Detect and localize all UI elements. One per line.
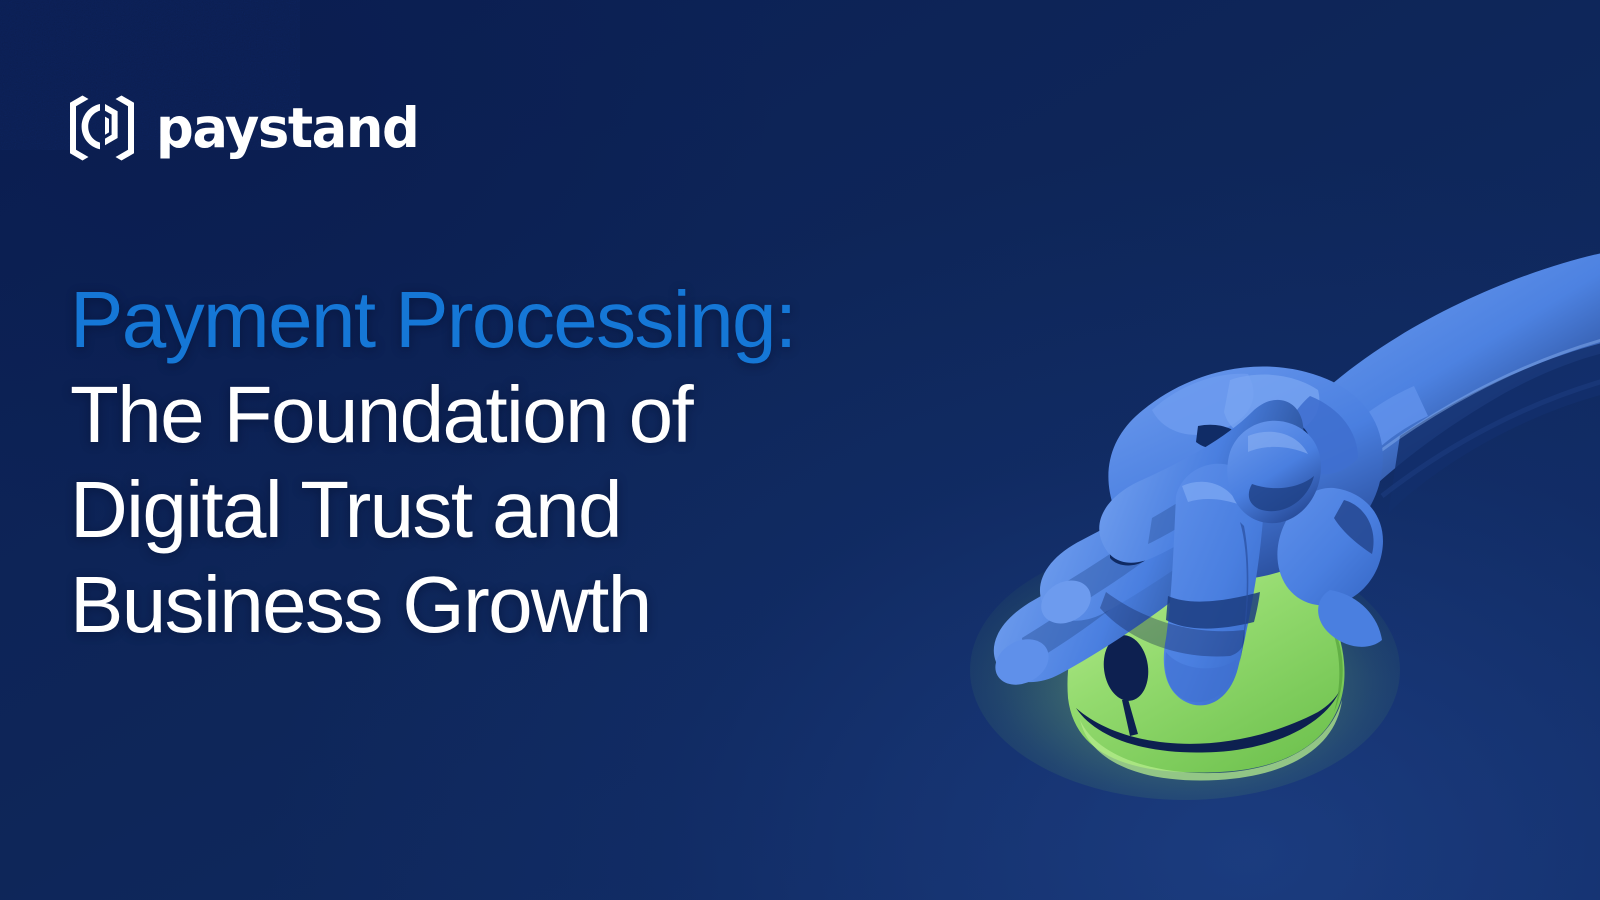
robotic-hand-back [1108, 366, 1383, 646]
paystand-hexagon-logo-icon [64, 92, 140, 164]
hero-banner: paystand Payment Processing: The Foundat… [0, 0, 1600, 900]
robotic-fingers [987, 400, 1321, 706]
robotic-hand-on-computer-mouse-illustration [930, 200, 1600, 820]
robotic-forearm [1302, 250, 1600, 514]
paystand-logo[interactable]: paystand [64, 92, 429, 164]
headline-accent-text: Payment Processing: [70, 275, 796, 364]
page-title: Payment Processing: The Foundation of Di… [70, 272, 850, 652]
computer-mouse [1067, 549, 1344, 780]
paystand-wordmark: paystand [156, 101, 418, 156]
headline-rest-text: The Foundation of Digital Trust and Busi… [70, 370, 692, 649]
